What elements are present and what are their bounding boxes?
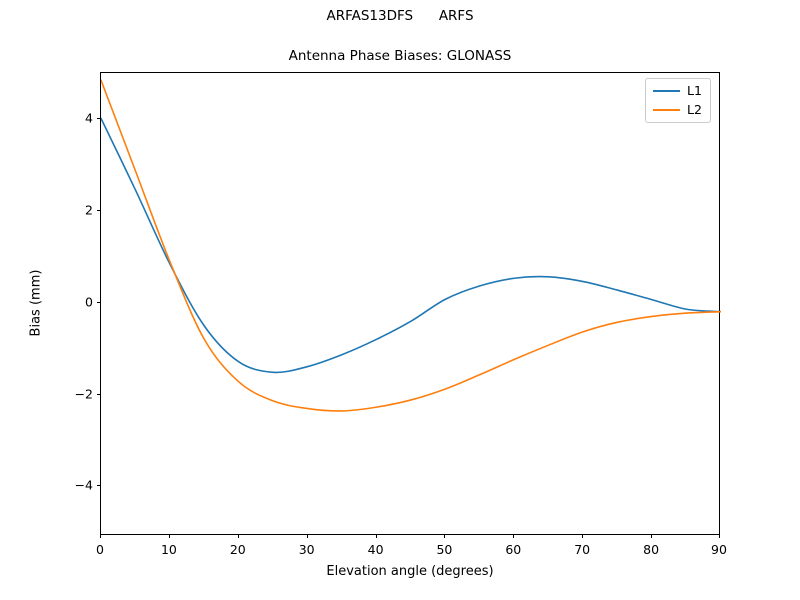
line-series-l1	[101, 118, 721, 372]
plot-area	[100, 72, 720, 535]
line-series-l2	[101, 80, 721, 411]
legend-box: L1 L2	[645, 78, 711, 123]
xtick-label-70: 70	[562, 542, 602, 557]
xtick-label-60: 60	[493, 542, 533, 557]
legend-entry-l2[interactable]: L2	[653, 104, 702, 117]
axes-title: Antenna Phase Biases: GLONASS	[0, 48, 800, 64]
xtick-label-90: 90	[699, 542, 739, 557]
legend-swatch-l2	[653, 109, 680, 111]
xtick-label-30: 30	[287, 542, 327, 557]
xtick-label-50: 50	[424, 542, 464, 557]
x-axis-label: Elevation angle (degrees)	[100, 564, 720, 579]
xtick-label-40: 40	[356, 542, 396, 557]
series-canvas	[101, 73, 721, 536]
xtick-label-80: 80	[631, 542, 671, 557]
ytick-label-minus4: −4	[53, 478, 93, 493]
ytick-label-zero: 0	[53, 295, 93, 310]
xtick-label-0: 0	[80, 542, 120, 557]
legend-swatch-l1	[653, 90, 680, 92]
ytick-label-2: 2	[53, 203, 93, 218]
ytick-label-minus2: −2	[53, 387, 93, 402]
ytick-label-4: 4	[53, 111, 93, 126]
xtick-label-20: 20	[218, 542, 258, 557]
xtick-label-10: 10	[149, 542, 189, 557]
y-axis-label: Bias (mm)	[29, 270, 44, 337]
figure-suptitle: ARFAS13DFS ARFS	[0, 8, 800, 24]
legend-label-l2: L2	[687, 104, 702, 117]
legend-label-l1: L1	[687, 85, 702, 98]
legend-entry-l1[interactable]: L1	[653, 85, 702, 98]
figure-canvas: ARFAS13DFS ARFS Antenna Phase Biases: GL…	[0, 0, 800, 600]
